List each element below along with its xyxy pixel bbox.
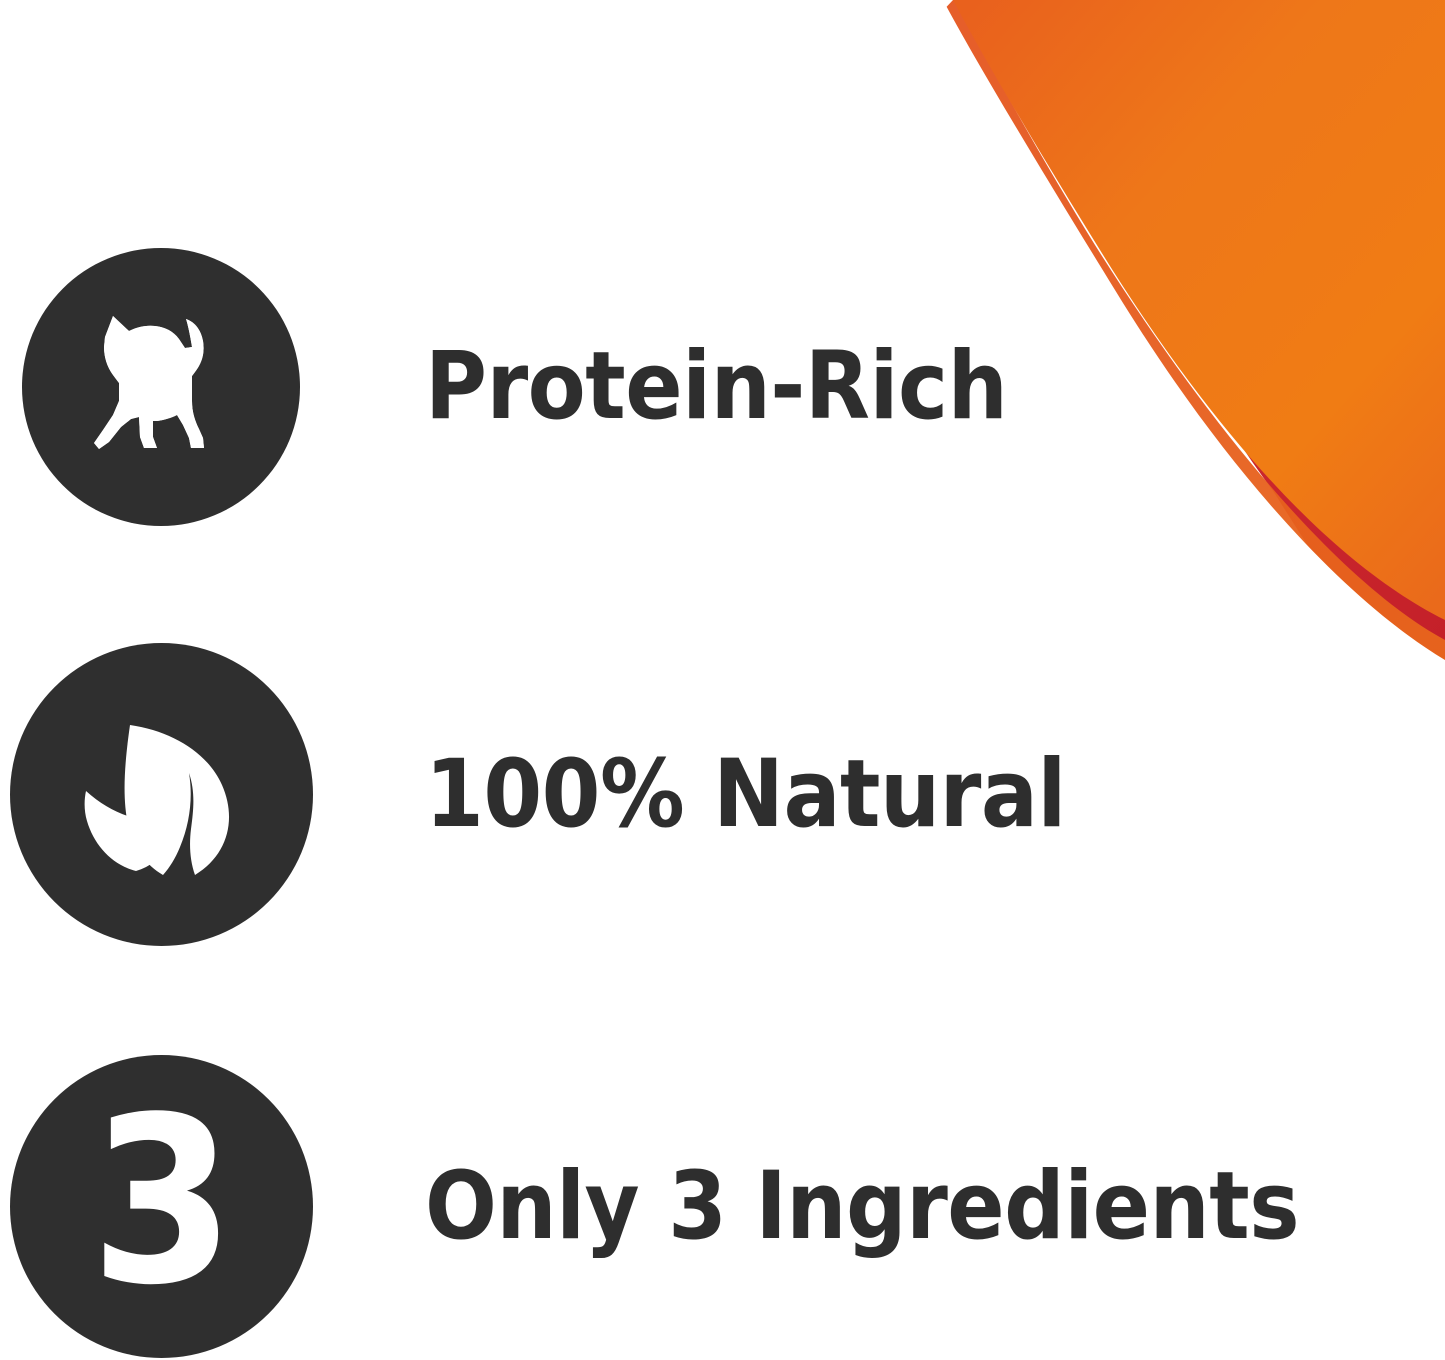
feature-row: Protein-Rich: [0, 248, 1150, 526]
leaf-icon: [62, 695, 262, 895]
badge-circle-ingredients: 3: [10, 1055, 313, 1358]
feature-label: 100% Natural: [425, 748, 1066, 842]
feature-label: Protein-Rich: [425, 340, 1007, 434]
feature-row: 100% Natural: [0, 643, 1150, 946]
badge-circle-protein: [22, 248, 300, 526]
feature-label: Only 3 Ingredients: [425, 1160, 1299, 1254]
badge-circle-natural: [10, 643, 313, 946]
cat-icon: [61, 297, 261, 477]
feature-row: 3 Only 3 Ingredients: [0, 1055, 1150, 1358]
number-three-icon: 3: [91, 1088, 233, 1318]
feature-badges-panel: Protein-Rich 100% Natural 3 Only 3 Ingre…: [0, 0, 1445, 1360]
